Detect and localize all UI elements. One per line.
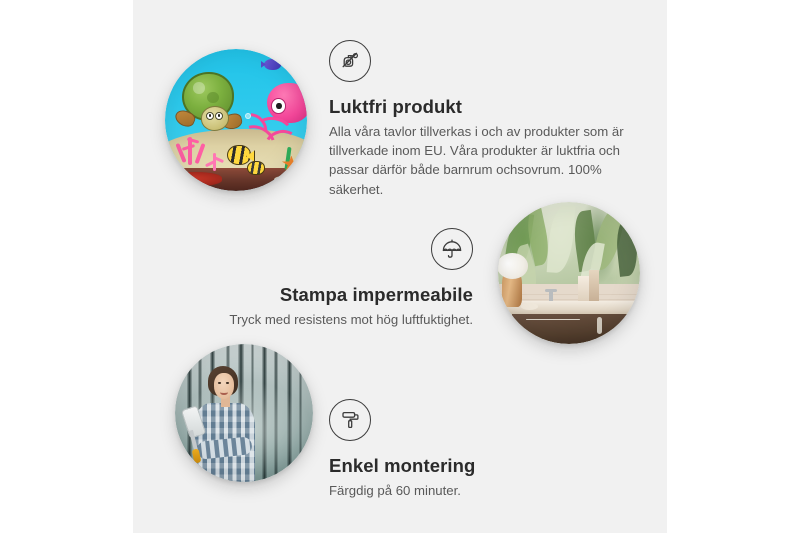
paint-roller-icon	[329, 399, 371, 441]
umbrella-icon	[431, 228, 473, 270]
pink-coral	[202, 146, 228, 172]
feature-block-waterproof: Stampa impermeabile Tryck med resistens …	[173, 228, 473, 329]
feature-title: Stampa impermeabile	[173, 283, 473, 306]
feature-title: Enkel montering	[329, 454, 629, 477]
octopus-eye	[271, 98, 286, 114]
feature-description: Alla våra tavlor tillverkas i och av pro…	[329, 122, 629, 199]
underwater-cartoon-photo	[165, 49, 307, 191]
feature-block-easy-mounting: Enkel montering Färgdig på 60 minuter.	[329, 399, 629, 500]
feature-title: Luktfri produkt	[329, 95, 629, 118]
feature-description: Tryck med resistens mot hög luftfuktighe…	[173, 310, 473, 329]
turtle-eye	[215, 112, 223, 120]
bathroom-leaf-wallpaper-photo	[498, 202, 640, 344]
photo-content-forest	[175, 344, 313, 482]
feature-block-odourless: Luktfri produkt Alla våra tavlor tillver…	[329, 40, 629, 199]
wooden-cabinet	[512, 314, 640, 344]
photo-content-bath	[498, 202, 640, 344]
turtle-eye	[206, 112, 214, 120]
white-flowers	[498, 253, 528, 279]
soap-dish	[521, 303, 538, 310]
turtle-head	[201, 106, 230, 131]
woman-smile	[220, 389, 228, 395]
promo-graphic: Luktfri produkt Alla våra tavlor tillver…	[0, 0, 800, 533]
woman-painter-forest-photo	[175, 344, 313, 482]
no-fragrance-icon	[329, 40, 371, 82]
yellow-striped-fish	[227, 145, 250, 165]
photo-content-sea	[165, 49, 307, 191]
seabed-floor-strip	[165, 168, 307, 191]
yellow-striped-fish	[247, 161, 265, 176]
feature-description: Färgdig på 60 minuter.	[329, 481, 629, 500]
woman-eye	[226, 382, 229, 384]
content-panel: Luktfri produkt Alla våra tavlor tillver…	[133, 0, 667, 533]
woman-eye	[218, 382, 221, 384]
